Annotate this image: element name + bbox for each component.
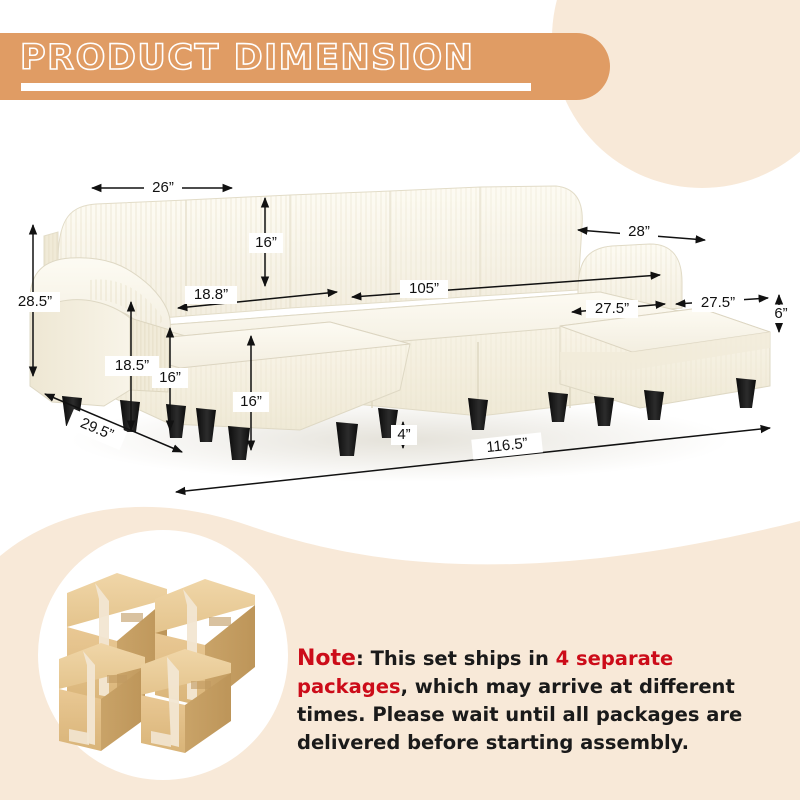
dimension-label-28: 28” (628, 223, 650, 240)
dimension-label-16-b: 16” (240, 393, 262, 410)
note-label: Note (297, 646, 356, 671)
dimension-label-27-5-b: 27.5” (701, 294, 735, 311)
note-colon: : (356, 647, 371, 670)
dimension-label-26: 26” (152, 179, 174, 196)
dimension-label-16-a: 16” (159, 369, 181, 386)
dimension-label-105: 105” (409, 280, 439, 297)
dimension-annotations: 26” 16” 28.5” 28” 18.8” 105” 27.5” 27.5”… (0, 140, 800, 520)
dimension-label-4: 4” (397, 426, 410, 443)
dimension-label-6: 6” (774, 305, 787, 322)
dimension-label-27-5-a: 27.5” (595, 300, 629, 317)
dimension-label-18-8: 18.8” (194, 286, 228, 303)
page-title: PRODUCT DIMENSION (20, 38, 474, 78)
header-banner: PRODUCT DIMENSION (0, 33, 610, 100)
shipping-note: Note: This set ships in 4 separate packa… (297, 645, 767, 757)
note-part1: This set ships in (371, 647, 556, 670)
dimline-total-depth-length (176, 428, 770, 492)
cardboard-boxes-icon (55, 555, 275, 755)
title-underline (21, 83, 531, 91)
dimline-overall-length (352, 275, 660, 297)
dimension-label-18-5: 18.5” (115, 357, 149, 374)
dimension-label-28-5: 28.5” (18, 293, 52, 310)
dimension-label-16-back: 16” (255, 234, 277, 251)
